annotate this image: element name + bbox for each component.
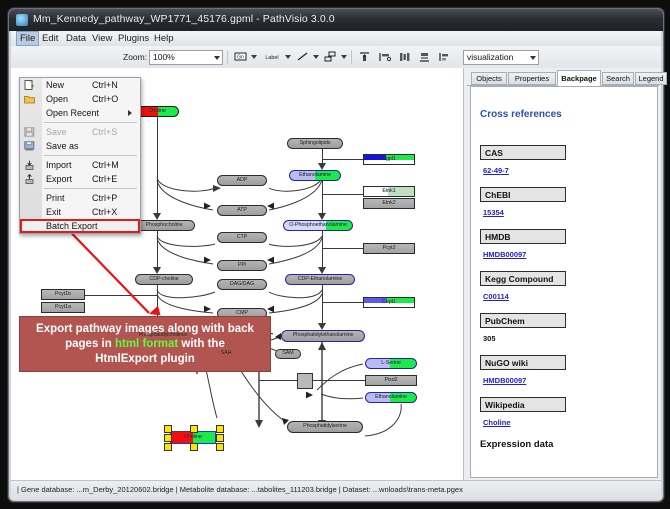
menu-label: Save xyxy=(46,127,67,137)
node-phosphatidylethanolamine[interactable]: Phosphatidylethanolamine xyxy=(281,330,365,342)
xref-value-cas[interactable]: 62-49-7 xyxy=(483,166,509,175)
node-label: Pisd2 xyxy=(385,378,398,383)
menu-item-export[interactable]: Export Ctrl+E xyxy=(20,172,140,186)
tool-bar: Zoom: 100% Gn Label xyxy=(11,46,661,69)
xref-value-nugo[interactable]: HMDB00097 xyxy=(483,376,526,385)
zoom-value: 100% xyxy=(153,52,175,62)
edge-sgpl1 xyxy=(322,159,363,160)
window-title: Mm_Kennedy_pathway_WP1771_45176.gpml - P… xyxy=(33,13,335,25)
menu-shortcut: Ctrl+O xyxy=(92,94,118,104)
callout-banner: Export pathway images along with back pa… xyxy=(19,316,271,372)
node-label: O-Phosphoethanolamine xyxy=(289,223,347,228)
node-label: Phosphatidylethanolamine xyxy=(293,333,354,338)
svg-text:Gn: Gn xyxy=(237,55,244,61)
shape-dropdown-icon[interactable] xyxy=(341,55,347,59)
menu-edit[interactable]: Edit xyxy=(39,32,61,45)
menu-label: Exit xyxy=(46,207,61,217)
new-file-icon xyxy=(24,80,35,90)
xref-label-hmdb: HMDB xyxy=(480,229,566,244)
node-phosphocholine[interactable]: Phosphocholine xyxy=(133,220,195,231)
save-disk-icon xyxy=(24,127,35,137)
menu-item-import[interactable]: Import Ctrl+M xyxy=(20,158,140,172)
tab-legend[interactable]: Legend xyxy=(635,72,667,85)
menu-label: Export xyxy=(46,174,72,184)
menu-shortcut: Ctrl+S xyxy=(92,127,117,137)
node-label: ADP xyxy=(237,178,248,183)
node-label: Sgpl1 xyxy=(382,157,395,162)
label-dropdown-icon[interactable] xyxy=(285,55,291,59)
menu-plugins[interactable]: Plugins xyxy=(115,32,152,45)
node-sam[interactable]: SAM xyxy=(275,349,301,359)
file-menu-popup[interactable]: New Ctrl+N Open Ctrl+O Open Recent Save … xyxy=(19,77,141,234)
node-o-phosphoethanolamine[interactable]: O-Phosphoethanolamine xyxy=(283,220,353,231)
xref-label-wikipedia: Wikipedia xyxy=(480,397,566,412)
node-ethanolamine[interactable]: Ethanolamine xyxy=(289,170,341,181)
datanode-dropdown-icon[interactable] xyxy=(251,55,257,59)
menu-label: Open Recent xyxy=(46,108,99,118)
edge-cept1 xyxy=(322,302,363,303)
menu-view[interactable]: View xyxy=(89,32,115,45)
menu-file[interactable]: File xyxy=(16,31,39,46)
menu-shortcut: Ctrl+P xyxy=(92,193,117,203)
edge-pcyt1-cdpcholine xyxy=(85,295,157,296)
client-area: File Edit Data View Plugins Help Zoom: 1… xyxy=(11,31,661,499)
menu-shortcut: Ctrl+N xyxy=(92,80,118,90)
node-label: Sphingolipids xyxy=(300,141,331,146)
tab-properties[interactable]: Properties xyxy=(508,72,556,85)
status-text: | Gene database: ...m_Derby_20120602.bri… xyxy=(17,485,463,494)
node-label: DAG/DAG xyxy=(230,282,254,287)
toolbar-separator xyxy=(227,50,228,64)
callout-line-2b: with the xyxy=(178,338,225,350)
node-label: Etnk2 xyxy=(382,201,395,206)
node-choline-top[interactable]: Choline xyxy=(135,106,179,117)
menu-shortcut: Ctrl+E xyxy=(92,174,117,184)
screenshot-root: Mm_Kennedy_pathway_WP1771_45176.gpml - P… xyxy=(0,0,670,509)
datanode-tool-icon[interactable]: Gn xyxy=(233,49,248,64)
anchor-shape xyxy=(297,373,313,389)
line-tool-icon[interactable] xyxy=(295,49,310,64)
node-ctp[interactable]: CTP xyxy=(217,232,267,243)
zoom-label: Zoom: xyxy=(123,52,147,62)
import-icon xyxy=(24,160,35,170)
node-label: Etnk1 xyxy=(382,189,395,194)
align-top-icon[interactable] xyxy=(357,49,372,64)
menu-item-save: Save Ctrl+S xyxy=(20,125,140,139)
node-label: PPi xyxy=(238,263,246,268)
node-pcyt1b[interactable]: Pcyt1b xyxy=(41,289,85,300)
node-label: ATP xyxy=(237,208,247,213)
xref-value-kegg[interactable]: C00114 xyxy=(483,292,509,301)
node-label: Phosphocholine xyxy=(146,223,183,228)
tab-search[interactable]: Search xyxy=(602,72,634,85)
node-label: L-Serine xyxy=(381,361,401,366)
expression-data-heading: Expression data xyxy=(480,439,553,450)
chevron-down-icon-2 xyxy=(530,56,536,60)
menu-data[interactable]: Data xyxy=(63,32,89,45)
backpage-heading: Cross references xyxy=(480,109,562,120)
node-dag[interactable]: DAG/DAG xyxy=(217,279,267,290)
menu-help[interactable]: Help xyxy=(151,32,177,45)
menu-item-print[interactable]: Print Ctrl+P xyxy=(20,191,140,205)
same-width-icon[interactable] xyxy=(437,49,452,64)
node-label: CDP-choline xyxy=(149,277,178,282)
node-cdp-choline[interactable]: CDP-choline xyxy=(135,274,193,285)
node-pcyt1a[interactable]: Pcyt1a xyxy=(41,302,85,313)
label-tool-icon[interactable]: Label xyxy=(261,49,283,64)
node-label: SAH xyxy=(221,351,232,356)
node-label: Choline xyxy=(148,109,166,114)
toolbar-separator-2 xyxy=(351,50,352,64)
open-folder-icon xyxy=(24,94,35,104)
node-adp[interactable]: ADP xyxy=(217,175,267,186)
node-label: Ethanolamine xyxy=(299,173,331,178)
align-left-icon[interactable] xyxy=(377,49,392,64)
node-label: Choline xyxy=(184,435,202,440)
application-window: Mm_Kennedy_pathway_WP1771_45176.gpml - P… xyxy=(8,8,664,502)
svg-text:Label: Label xyxy=(265,55,278,61)
xref-value-hmdb[interactable]: HMDB00097 xyxy=(483,250,526,259)
node-label: Pcyt1b xyxy=(55,292,71,297)
align-center-icon[interactable] xyxy=(397,49,412,64)
side-panel-tabs: Objects Properties Backpage Search Legen… xyxy=(467,70,659,86)
node-pisd2[interactable]: Pisd2 xyxy=(365,375,417,386)
menu-item-exit[interactable]: Exit Ctrl+X xyxy=(20,205,140,219)
menu-bar: File Edit Data View Plugins Help xyxy=(11,31,661,47)
title-bar[interactable]: Mm_Kennedy_pathway_WP1771_45176.gpml - P… xyxy=(9,9,663,31)
node-l-serine[interactable]: L-Serine xyxy=(365,358,417,369)
node-label: Pcyt1a xyxy=(55,305,71,310)
pathvisio-icon xyxy=(16,14,28,26)
node-atp[interactable]: ATP xyxy=(217,205,267,216)
menu-label: Print xyxy=(46,193,65,203)
menu-item-new[interactable]: New Ctrl+N xyxy=(20,78,140,92)
node-label: CMP xyxy=(236,311,248,316)
node-label: Pcyt2 xyxy=(383,246,396,251)
menu-item-batch-export[interactable]: Batch Export xyxy=(20,219,140,233)
node-label: CTP xyxy=(237,235,247,240)
line-dropdown-icon[interactable] xyxy=(313,55,319,59)
node-label: CDP-Ethanolamine xyxy=(298,277,343,282)
visualization-combo[interactable]: visualization xyxy=(463,50,539,65)
node-label: Cept1 xyxy=(382,300,396,305)
edge-etnk-etn xyxy=(322,194,363,195)
xref-label-cas: CAS xyxy=(480,145,566,160)
shape-tool-icon[interactable] xyxy=(323,49,338,64)
chevron-down-icon xyxy=(214,56,220,60)
distribute-horizontal-icon[interactable] xyxy=(417,49,432,64)
node-label: Phosphatidylserine xyxy=(303,424,347,429)
node-label: SAM xyxy=(282,351,293,356)
node-sphingolipids[interactable]: Sphingolipids xyxy=(287,138,343,149)
callout-highlight: html format xyxy=(115,338,178,350)
xref-value-pubchem: 305 xyxy=(483,334,496,343)
menu-item-open[interactable]: Open Ctrl+O xyxy=(20,92,140,106)
node-cdp-ethanolamine[interactable]: CDP-Ethanolamine xyxy=(285,274,355,285)
tab-objects[interactable]: Objects xyxy=(471,72,507,85)
menu-item-save-as[interactable]: Save as xyxy=(20,139,140,153)
tab-backpage[interactable]: Backpage xyxy=(557,70,601,86)
visualization-value: visualization xyxy=(467,52,513,62)
node-etnk1[interactable]: Etnk1 xyxy=(363,186,415,197)
xref-label-kegg: Kegg Compound xyxy=(480,271,566,286)
menu-label: Batch Export xyxy=(46,221,98,231)
xref-label-chebi: ChEBI xyxy=(480,187,566,202)
menu-shortcut: Ctrl+M xyxy=(92,160,119,170)
node-etnk2[interactable]: Etnk2 xyxy=(363,198,415,209)
export-icon xyxy=(24,174,35,184)
save-as-icon xyxy=(24,141,35,151)
xref-label-nugo: NuGO wiki xyxy=(480,355,566,370)
xref-value-wikipedia[interactable]: Choline xyxy=(483,418,511,427)
node-phosphatidylserine[interactable]: Phosphatidylserine xyxy=(287,421,363,433)
xref-value-chebi[interactable]: 15354 xyxy=(483,208,504,217)
menu-label: Save as xyxy=(46,141,79,151)
menu-label: Open xyxy=(46,94,68,104)
status-bar: | Gene database: ...m_Derby_20120602.bri… xyxy=(11,480,661,500)
xref-label-pubchem: PubChem xyxy=(480,313,566,328)
node-label: Ethanolamine xyxy=(375,395,407,400)
node-pcyt2[interactable]: Pcyt2 xyxy=(363,243,415,254)
menu-shortcut: Ctrl+X xyxy=(92,207,117,217)
menu-label: Import xyxy=(46,160,72,170)
edge-pcyt2 xyxy=(322,248,363,249)
menu-item-open-recent[interactable]: Open Recent xyxy=(20,106,140,120)
node-ethanolamine-2[interactable]: Ethanolamine xyxy=(365,392,417,403)
submenu-arrow-icon xyxy=(128,110,132,116)
backpage-content[interactable]: Cross references CAS 62-49-7 ChEBI 15354… xyxy=(470,86,658,478)
zoom-combo[interactable]: 100% xyxy=(149,50,223,65)
node-ppi[interactable]: PPi xyxy=(217,260,267,271)
node-label: Phosphatidylcholines xyxy=(139,333,188,338)
menu-label: New xyxy=(46,80,64,90)
side-panel: Objects Properties Backpage Search Legen… xyxy=(464,68,661,480)
callout-line-2a: pages in xyxy=(65,338,115,350)
